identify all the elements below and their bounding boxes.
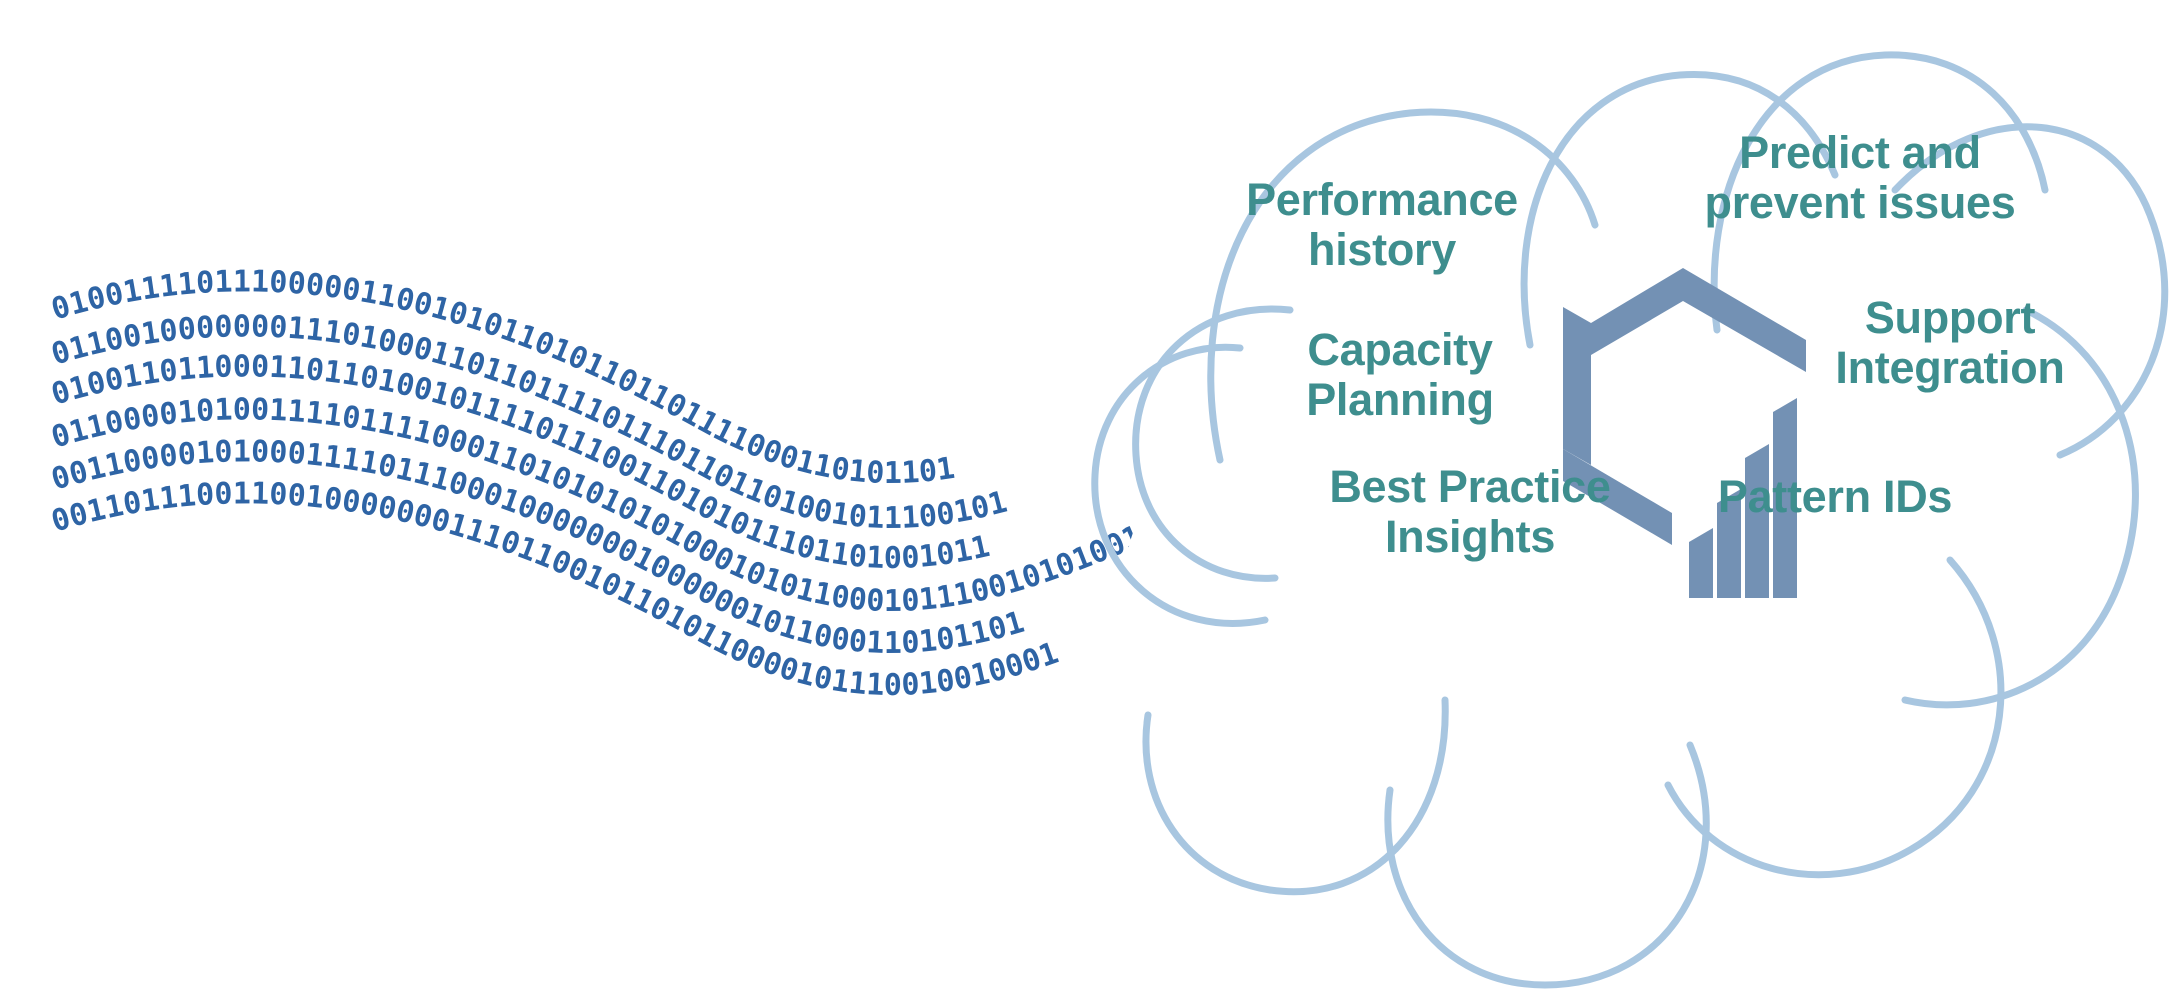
- cloud-label-capacity-planning: Capacity Planning: [1250, 325, 1550, 426]
- diagram-canvas: 0100111101110000011001010110101101101111…: [0, 0, 2182, 994]
- cloud-label-predict-prevent: Predict and prevent issues: [1650, 128, 2070, 229]
- cloud-label-performance-history: Performance history: [1232, 175, 1532, 276]
- cloud-label-best-practice-insights: Best Practice Insights: [1280, 462, 1660, 563]
- cloud-label-pattern-ids: Pattern IDs: [1660, 472, 2010, 522]
- cloud-label-support-integration: Support Integration: [1760, 293, 2140, 394]
